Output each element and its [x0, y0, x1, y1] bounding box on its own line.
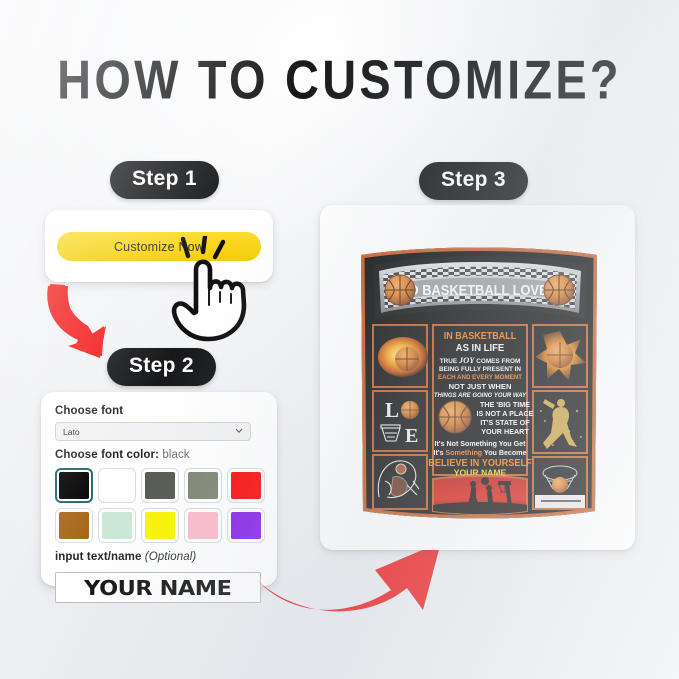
step-3-badge: Step 3	[419, 162, 528, 200]
swatch-red[interactable]	[227, 468, 265, 503]
input-text-label-note: (Optional)	[145, 551, 197, 563]
input-text-label: input text/name (Optional)	[55, 551, 263, 563]
swatch-purple[interactable]	[227, 508, 265, 543]
page-title: HOW TO CUSTOMIZE?	[0, 48, 679, 112]
step-2-badge: Step 2	[107, 348, 216, 386]
choose-font-label: Choose font	[55, 405, 263, 417]
step-3-card: TO BASKETBALL LOVER	[320, 205, 635, 550]
step-1-badge: Step 1	[110, 161, 219, 199]
product-blanket-preview: TO BASKETBALL LOVER	[355, 245, 603, 521]
choose-font-color-label: Choose font color: black	[55, 449, 263, 461]
chevron-down-icon	[235, 427, 243, 435]
swatch-pink[interactable]	[184, 508, 222, 543]
name-input[interactable]: YOUR NAME	[55, 572, 261, 603]
swatch-black[interactable]	[55, 468, 93, 503]
step-1-card: Customize Now	[45, 210, 273, 282]
page-background: HOW TO CUSTOMIZE? Step 1 Customize Now S…	[0, 0, 679, 679]
swatch-sage-green[interactable]	[184, 468, 222, 503]
swatch-yellow[interactable]	[141, 508, 179, 543]
name-input-value: YOUR NAME	[84, 576, 231, 600]
font-color-value: black	[162, 449, 189, 461]
swatch-brown[interactable]	[55, 508, 93, 543]
font-color-swatch-grid	[55, 468, 263, 543]
font-color-label-text: Choose font color:	[55, 449, 159, 461]
swatch-mint[interactable]	[98, 508, 136, 543]
customize-now-button[interactable]: Customize Now	[57, 232, 261, 261]
font-select-value: Lato	[63, 427, 80, 437]
swatch-dark-gray[interactable]	[141, 468, 179, 503]
input-text-label-text: input text/name	[55, 551, 141, 563]
step-2-card: Choose font Lato Choose font color: blac…	[41, 392, 277, 586]
swatch-white[interactable]	[98, 468, 136, 503]
font-select[interactable]: Lato	[55, 422, 251, 441]
